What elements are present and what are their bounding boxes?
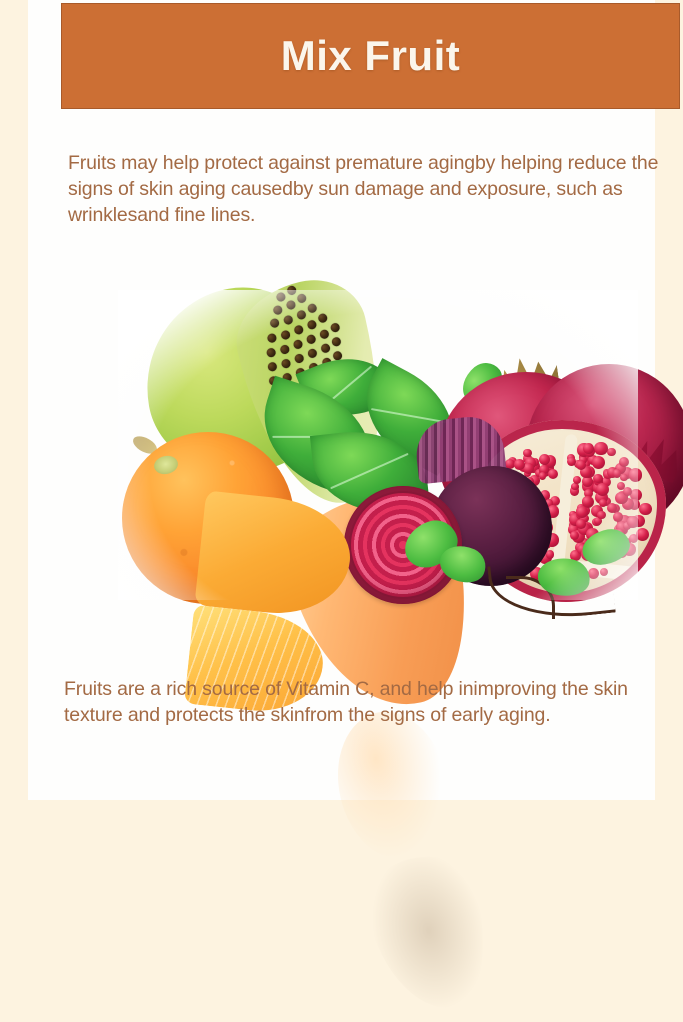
intro-paragraph: Fruits may help protect against prematur… <box>68 150 683 228</box>
leaf-vein <box>331 453 410 489</box>
papaya-seed-cluster <box>357 846 501 1022</box>
closing-paragraph: Fruits are a rich source of Vitamin C, a… <box>64 676 683 728</box>
content-card: Mix Fruit Fruits may help protect agains… <box>28 0 655 800</box>
orange-wedge-rind <box>194 490 355 620</box>
mixed-fruit-photo <box>108 260 653 610</box>
header-banner: Mix Fruit <box>61 3 680 109</box>
page-title: Mix Fruit <box>281 35 461 77</box>
page-background: Mix Fruit Fruits may help protect agains… <box>0 0 683 800</box>
orange-wedge-shape <box>194 490 355 620</box>
